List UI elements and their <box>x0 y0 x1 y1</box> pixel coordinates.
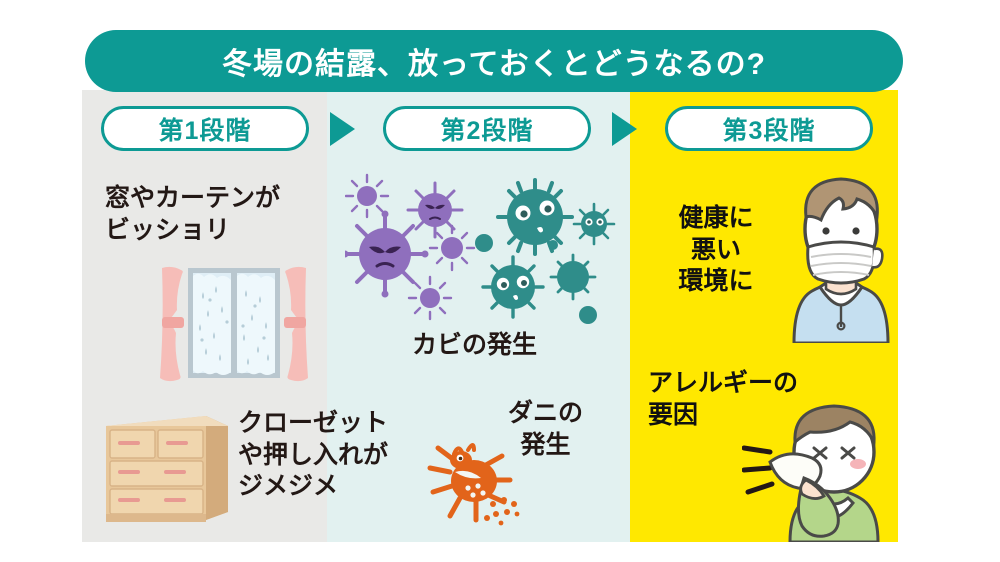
mold-germs-illustration <box>345 172 630 327</box>
stage-badge-1: 第1段階 <box>101 106 309 151</box>
germ-teal-small <box>574 204 614 244</box>
germ-teal-medium <box>483 257 543 317</box>
stage-badge-3-label: 第3段階 <box>723 111 816 147</box>
chest-of-drawers-illustration <box>98 408 238 526</box>
text-line: 要因 <box>648 400 798 432</box>
mite-growth-text: ダニの 発生 <box>508 398 583 461</box>
text-line: 環境に <box>652 266 780 298</box>
triangle-right-icon <box>612 112 637 146</box>
germ-teal-dot <box>475 234 493 252</box>
text-line: アレルギーの <box>648 368 798 400</box>
germ-purple-medium <box>408 183 462 237</box>
text-line: 悪い <box>652 235 780 267</box>
person-with-mask-illustration <box>782 165 900 343</box>
mold-growth-text: カビの発生 <box>412 330 537 362</box>
text-line: や押し入れが <box>238 440 388 472</box>
text-line: 健康に <box>652 203 780 235</box>
germ-purple-small <box>346 175 388 217</box>
stage-badge-1-label: 第1段階 <box>159 111 252 147</box>
text-line: ビッショリ <box>105 215 280 247</box>
triangle-right-icon <box>330 112 355 146</box>
banner-title: 冬場の結露、放っておくとどうなるの? <box>222 39 766 83</box>
text-line: 窓やカーテンが <box>105 183 280 215</box>
text-line: ジメジメ <box>238 471 388 503</box>
stage-badge-2-label: 第2段階 <box>441 111 534 147</box>
window-with-curtains-illustration <box>148 262 320 390</box>
stage-badge-2: 第2段階 <box>383 106 591 151</box>
germ-teal-dot <box>579 306 597 324</box>
germ-purple-small <box>409 277 451 319</box>
germ-teal-dot <box>548 240 558 250</box>
window-wet-text: 窓やカーテンが ビッショリ <box>105 183 280 246</box>
closet-damp-text: クローゼット や押し入れが ジメジメ <box>238 408 388 503</box>
unhealthy-environment-text: 健康に 悪い 環境に <box>652 203 780 298</box>
germ-purple-small <box>430 226 474 270</box>
text-line: カビの発生 <box>412 330 537 362</box>
text-line: 発生 <box>508 430 583 462</box>
text-line: ダニの <box>508 398 583 430</box>
stage-badge-3: 第3段階 <box>665 106 873 151</box>
allergy-cause-text: アレルギーの 要因 <box>648 368 798 431</box>
germ-teal-large <box>498 180 572 254</box>
germ-teal-plain <box>551 255 595 299</box>
title-banner: 冬場の結露、放っておくとどうなるの? <box>85 30 903 92</box>
text-line: クローゼット <box>238 408 388 440</box>
infographic-root: 冬場の結露、放っておくとどうなるの? 第1段階 第2段階 第3段階 窓やカーテン… <box>0 0 1000 562</box>
